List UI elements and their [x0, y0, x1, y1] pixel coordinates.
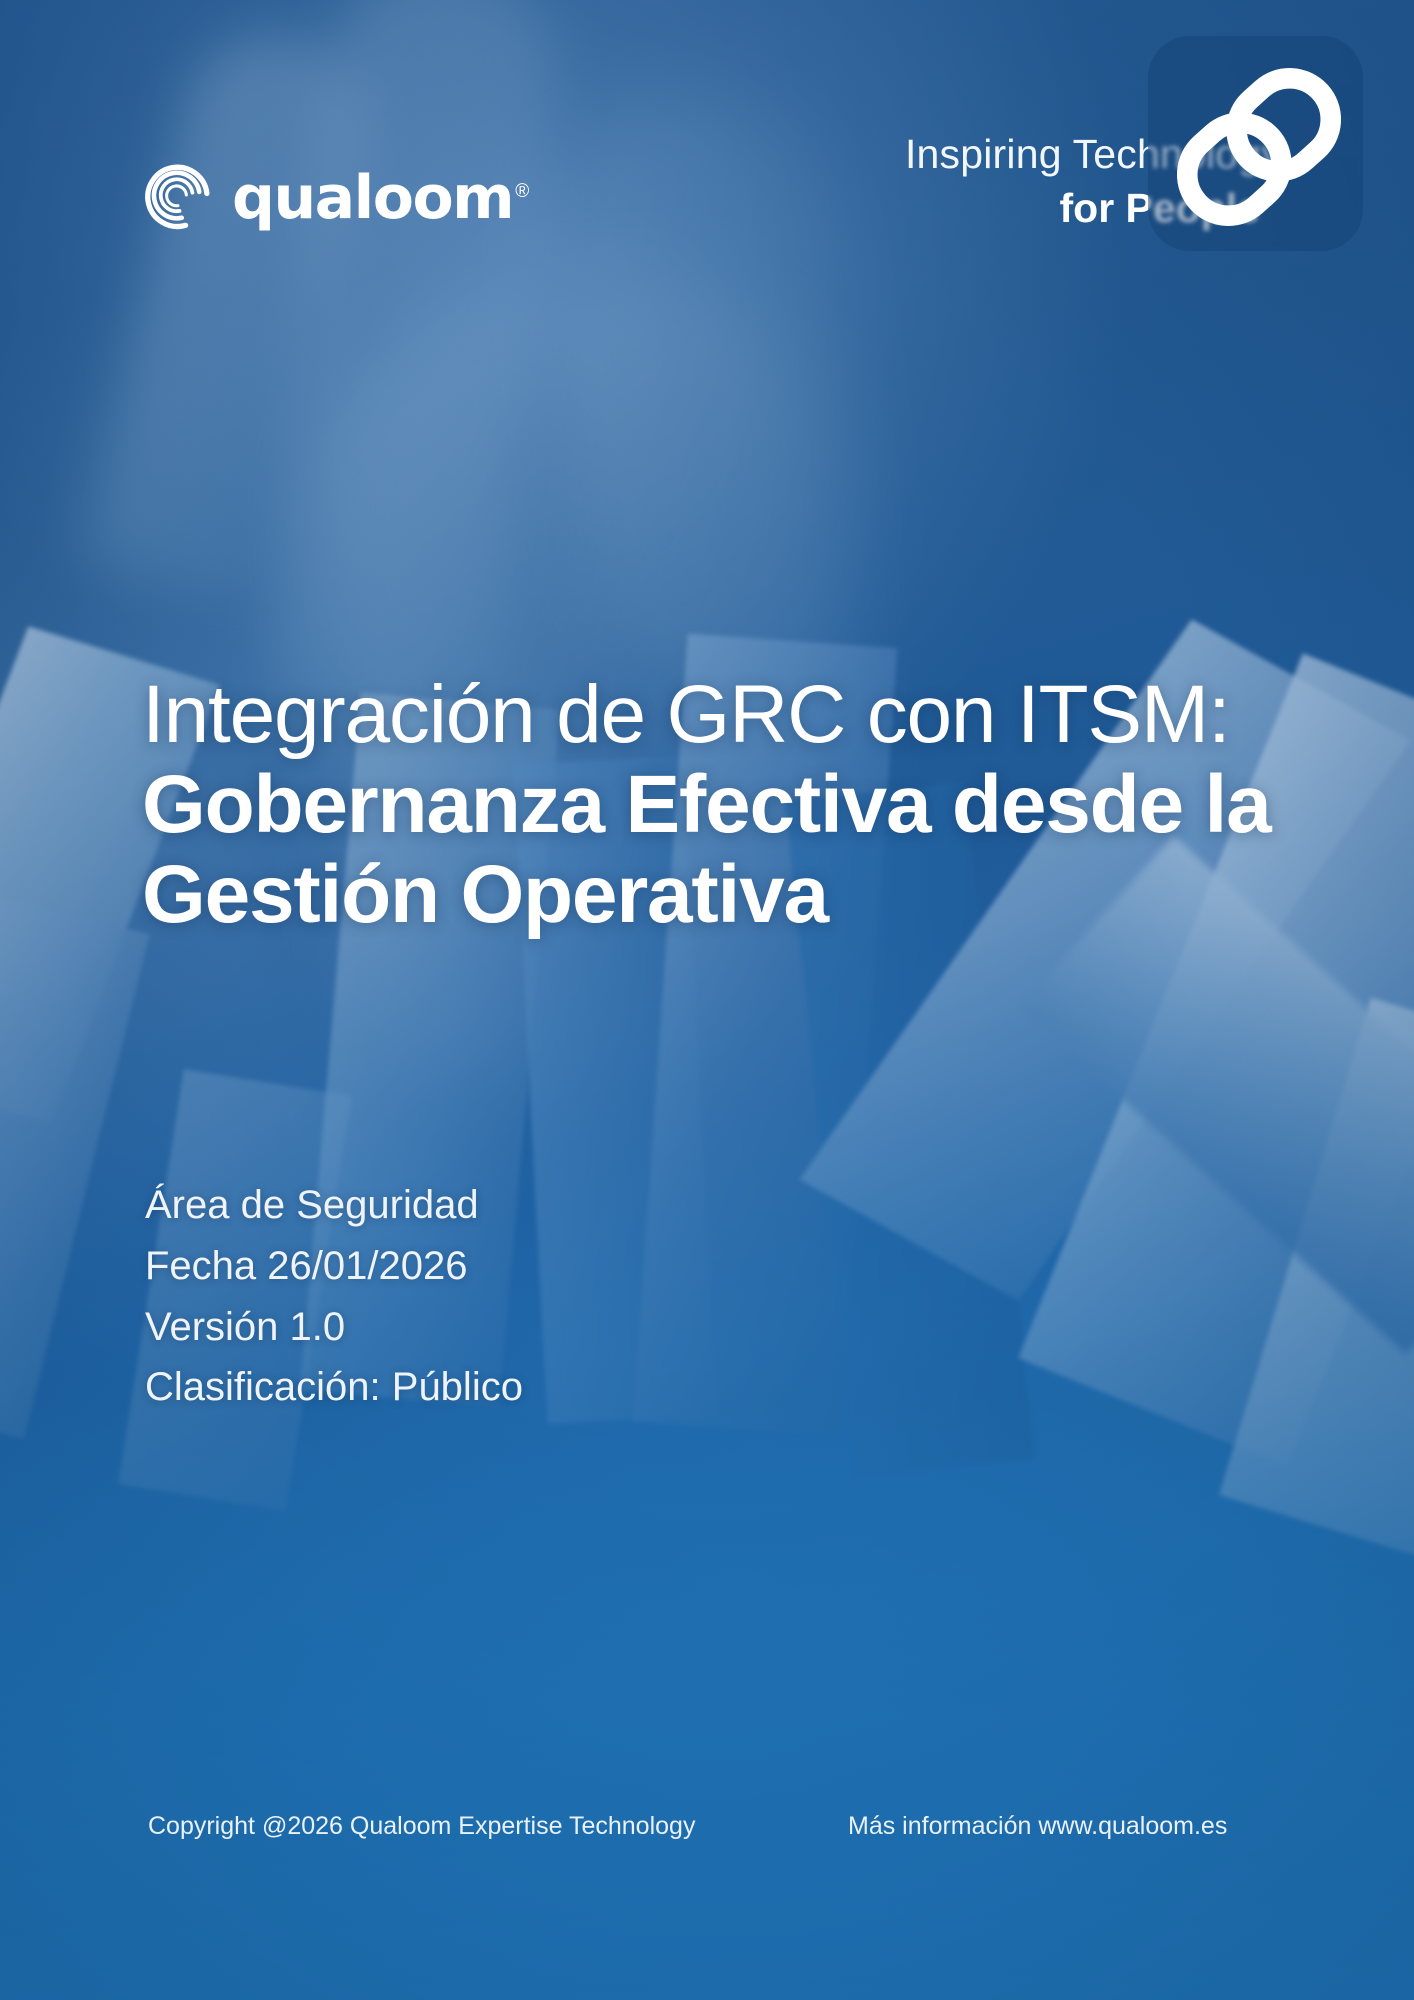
cover-page: qualoom® Inspiring Technology for People…	[0, 0, 1414, 2000]
cover-content: qualoom® Inspiring Technology for People…	[0, 0, 1414, 2000]
page-title-bold: Gobernanza Efectiva desde la Gestión Ope…	[142, 759, 1271, 940]
metadata-area: Área de Seguridad	[145, 1175, 523, 1236]
qualoom-logo: qualoom®	[140, 160, 528, 236]
metadata-version: Versión 1.0	[145, 1297, 523, 1358]
registered-trademark-symbol: ®	[515, 181, 528, 202]
footer-more-info[interactable]: Más información www.qualoom.es	[848, 1812, 1227, 1841]
title-block: Integración de GRC con ITSM: Gobernanza …	[142, 670, 1272, 941]
page-title: Integración de GRC con ITSM: Gobernanza …	[142, 670, 1272, 941]
qualoom-wordmark-text: qualoom	[232, 163, 513, 233]
chain-links-icon	[1164, 52, 1354, 242]
metadata-date: Fecha 26/01/2026	[145, 1236, 523, 1297]
footer-copyright: Copyright @2026 Qualoom Expertise Techno…	[148, 1812, 695, 1841]
page-title-regular: Integración de GRC con ITSM:	[142, 669, 1230, 760]
document-metadata: Área de Seguridad Fecha 26/01/2026 Versi…	[145, 1175, 523, 1418]
qualoom-swirl-icon	[140, 160, 216, 236]
qualoom-wordmark: qualoom®	[232, 168, 528, 228]
metadata-classification: Clasificación: Público	[145, 1357, 523, 1418]
